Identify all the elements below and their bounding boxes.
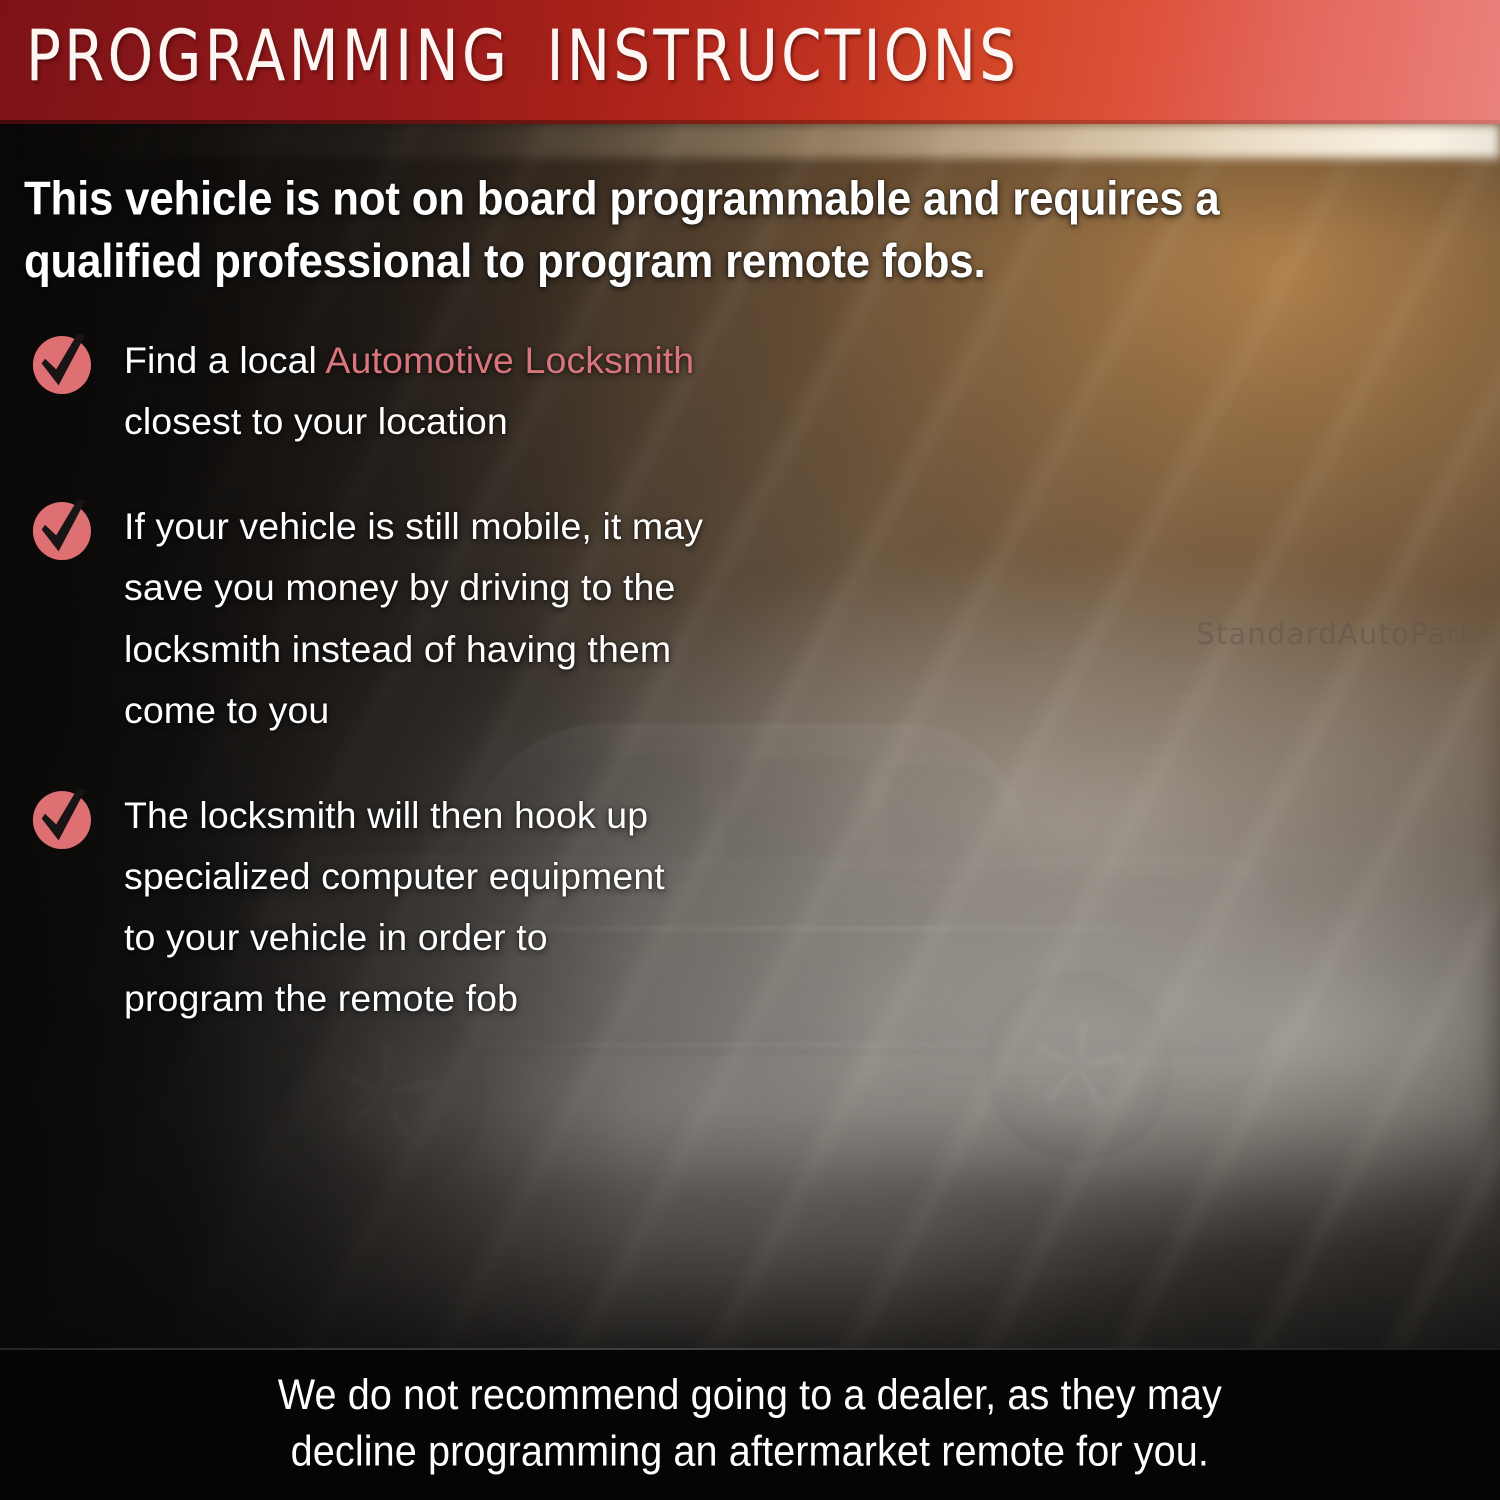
footer-disclaimer: We do not recommend going to a dealer, a… [0,1348,1500,1500]
footer-text: We do not recommend going to a dealer, a… [278,1368,1222,1480]
list-item-text-lead: The locksmith will then hook up speciali… [124,794,665,1019]
list-item: The locksmith will then hook up speciali… [24,785,924,1030]
check-circle-icon [31,334,93,396]
header-banner: PROGRAMMING INSTRUCTIONS [0,0,1500,124]
list-item: Find a local Automotive Locksmith closes… [24,330,924,452]
programming-instructions-page: PROGRAMMING INSTRUCTIONS StandardAutoPar… [0,0,1500,1500]
check-circle-icon [31,789,93,851]
list-item-accent-text: Automotive Locksmith [325,339,694,381]
list-item-text: If your vehicle is still mobile, it may … [124,496,924,741]
list-item-text: The locksmith will then hook up speciali… [124,785,924,1030]
header-underglow [0,124,1500,158]
list-item-text-tail: closest to your location [124,400,508,442]
check-circle-icon [31,500,93,562]
watermark-brand: StandardAutoPart [1196,617,1472,651]
instruction-list: Find a local Automotive Locksmith closes… [24,330,924,1029]
lede-statement: This vehicle is not on board programmabl… [24,168,1347,292]
list-item-text-lead: If your vehicle is still mobile, it may … [124,505,703,730]
list-item-text: Find a local Automotive Locksmith closes… [124,330,924,452]
page-title: PROGRAMMING INSTRUCTIONS [26,15,1019,97]
list-item: If your vehicle is still mobile, it may … [24,496,924,741]
list-item-text-lead: Find a local [124,339,325,381]
main-content: This vehicle is not on board programmabl… [0,124,1500,1348]
